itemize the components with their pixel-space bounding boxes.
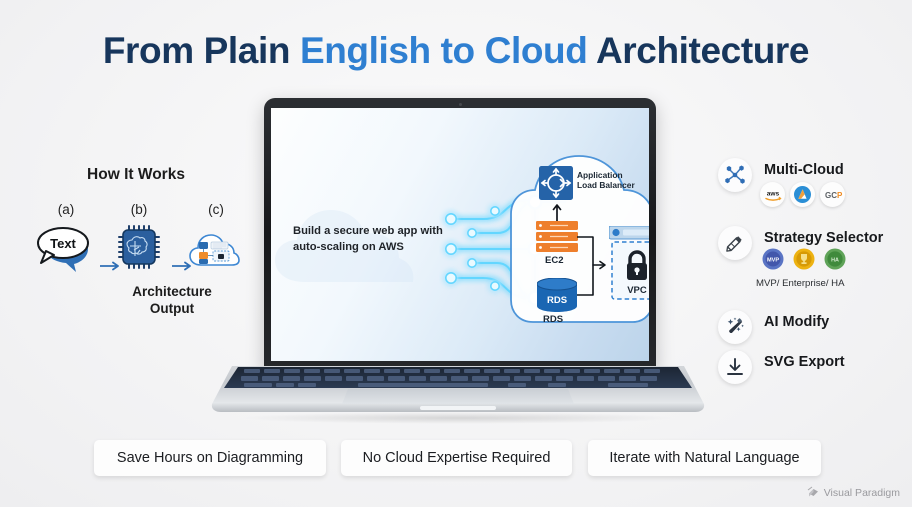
- ha-badge[interactable]: HA: [824, 248, 846, 275]
- laptop-screen: Build a secure web app with auto-scaling…: [271, 108, 649, 361]
- laptop-base: [208, 366, 708, 412]
- feature-multi-cloud-label: Multi-Cloud: [764, 162, 844, 178]
- feature-strategy-selector-label: Strategy Selector: [764, 230, 883, 246]
- laptop-lid: Build a secure web app with auto-scaling…: [264, 98, 656, 370]
- ec2-label: EC2: [545, 255, 563, 267]
- svg-text:MVP: MVP: [767, 258, 779, 264]
- title-part1: From Plain: [103, 30, 300, 71]
- rds-icon: RDS: [537, 278, 577, 317]
- step-b-letter: (b): [108, 202, 170, 217]
- title-accent: English to Cloud: [300, 30, 588, 71]
- svg-text:P: P: [837, 191, 843, 200]
- feature-multi-cloud[interactable]: Multi-Cloud aws GC P: [718, 158, 904, 214]
- multi-cloud-network-icon: [718, 158, 752, 192]
- alb-label: Application Load Balancer: [577, 170, 635, 191]
- speech-bubble-text: Text: [50, 236, 76, 251]
- pill-iterate-natural-language[interactable]: Iterate with Natural Language: [588, 440, 821, 476]
- vpc-text: VPC: [627, 285, 647, 296]
- feature-svg-export[interactable]: SVG Export: [718, 350, 904, 386]
- feature-ai-modify[interactable]: AI Modify: [718, 310, 904, 346]
- pill-no-cloud-expertise[interactable]: No Cloud Expertise Required: [341, 440, 572, 476]
- webcam-icon: [459, 103, 462, 106]
- ec2-icon: [536, 221, 578, 257]
- feature-strategy-selector[interactable]: Strategy Selector MVP: [718, 226, 904, 296]
- title-part2: Architecture: [587, 30, 809, 71]
- pill-save-hours[interactable]: Save Hours on Diagramming: [94, 440, 326, 476]
- cloud-provider-logos: aws GC P: [760, 182, 845, 207]
- ai-chip-brain-icon: [108, 221, 170, 273]
- vpc-panel: VPC: [609, 226, 649, 307]
- visual-paradigm-logo: [807, 486, 820, 499]
- strategy-badges: MVP HA: [762, 248, 846, 275]
- enterprise-badge[interactable]: [793, 248, 815, 275]
- aws-logo[interactable]: aws: [760, 182, 785, 207]
- svg-text:GC: GC: [825, 191, 837, 200]
- benefit-pills: Save Hours on Diagramming No Cloud Exper…: [0, 440, 912, 476]
- watermark-text: Visual Paradigm: [824, 487, 900, 499]
- rds-label: RDS: [543, 314, 563, 326]
- page-title: From Plain English to Cloud Architecture: [0, 30, 912, 72]
- strategy-caption: MVP/ Enterprise/ HA: [756, 278, 845, 289]
- alb-label-line1: Application: [577, 170, 635, 180]
- laptop-shadow: [238, 412, 678, 424]
- azure-logo[interactable]: [790, 182, 815, 207]
- laptop-mockup: Build a secure web app with auto-scaling…: [208, 98, 708, 418]
- download-icon: [718, 350, 752, 384]
- mvp-badge[interactable]: MVP: [762, 248, 784, 275]
- pencil-icon: [718, 226, 752, 260]
- application-load-balancer-icon: [539, 166, 573, 205]
- alb-label-line2: Load Balancer: [577, 180, 635, 190]
- svg-text:HA: HA: [831, 257, 839, 263]
- feature-ai-modify-label: AI Modify: [764, 314, 829, 330]
- watermark: Visual Paradigm: [807, 486, 900, 499]
- magic-wand-icon: [718, 310, 752, 344]
- svg-text:aws: aws: [766, 190, 779, 197]
- feature-svg-export-label: SVG Export: [764, 354, 845, 370]
- step-b: (b): [108, 202, 170, 273]
- rds-inner-text: RDS: [547, 295, 567, 306]
- step-a-letter: (a): [30, 202, 102, 217]
- prompt-text: Build a secure web app with auto-scaling…: [293, 224, 443, 256]
- step-a: (a) Text: [30, 202, 102, 273]
- connector-to-vpc: [577, 233, 613, 306]
- gcp-logo[interactable]: GC P: [820, 182, 845, 207]
- speech-bubble-icon: Text: [30, 221, 102, 273]
